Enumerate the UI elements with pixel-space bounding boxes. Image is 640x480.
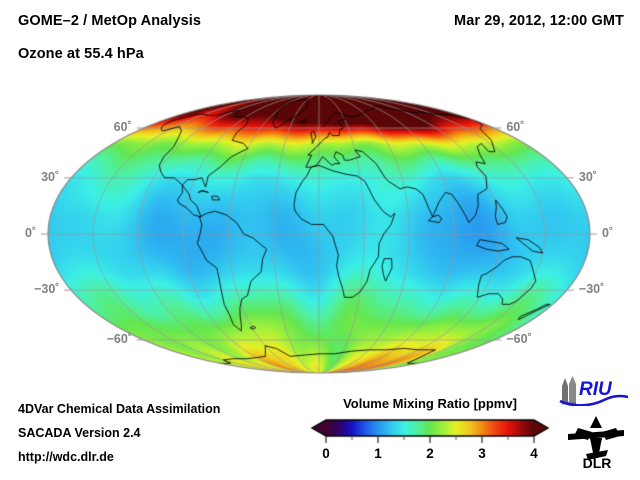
lat-label-right-m60: −60˚: [506, 333, 531, 346]
lat-label-right-m30: −30˚: [579, 283, 604, 296]
colorbar-title: Volume Mixing Ratio [ppmv]: [310, 396, 550, 411]
dlr-logo: DLR: [566, 414, 628, 470]
lat-label-left-30: 30˚: [41, 171, 59, 184]
colorbar-tick-3: 3: [470, 446, 494, 461]
lat-label-left-m30: −30˚: [34, 283, 59, 296]
dlr-logo-text: DLR: [583, 455, 612, 470]
colorbar: Volume Mixing Ratio [ppmv] 0 1 2 3 4: [310, 396, 550, 476]
riu-logo-text: RIU: [579, 379, 613, 400]
footer-line-method: 4DVar Chemical Data Assimilation: [18, 402, 220, 416]
lat-label-right-60: 60˚: [506, 121, 524, 134]
lat-label-left-0: 0˚: [25, 227, 36, 240]
ozone-map-canvas: [0, 80, 640, 380]
colorbar-tick-4: 4: [522, 446, 546, 461]
colorbar-tick-0: 0: [314, 446, 338, 461]
lat-label-right-0: 0˚: [602, 227, 613, 240]
riu-logo: RIU: [558, 374, 630, 406]
riu-towers-icon: [562, 376, 576, 405]
header-subtitle: Ozone at 55.4 hPa: [18, 46, 144, 62]
lat-label-left-m60: −60˚: [107, 333, 132, 346]
header-title: GOME–2 / MetOp Analysis: [18, 13, 201, 29]
dlr-bird-icon: [568, 416, 624, 460]
footer-line-url[interactable]: http://wdc.dlr.de: [18, 450, 114, 464]
colorbar-tick-1: 1: [366, 446, 390, 461]
footer-line-version: SACADA Version 2.4: [18, 426, 141, 440]
colorbar-tick-2: 2: [418, 446, 442, 461]
header-datetime: Mar 29, 2012, 12:00 GMT: [454, 13, 624, 29]
ozone-map: 60˚ 30˚ 0˚ −30˚ −60˚ 60˚ 30˚ 0˚ −30˚ −60…: [0, 80, 640, 380]
lat-label-left-60: 60˚: [114, 121, 132, 134]
lat-label-right-30: 30˚: [579, 171, 597, 184]
colorbar-gradient: [310, 418, 550, 446]
